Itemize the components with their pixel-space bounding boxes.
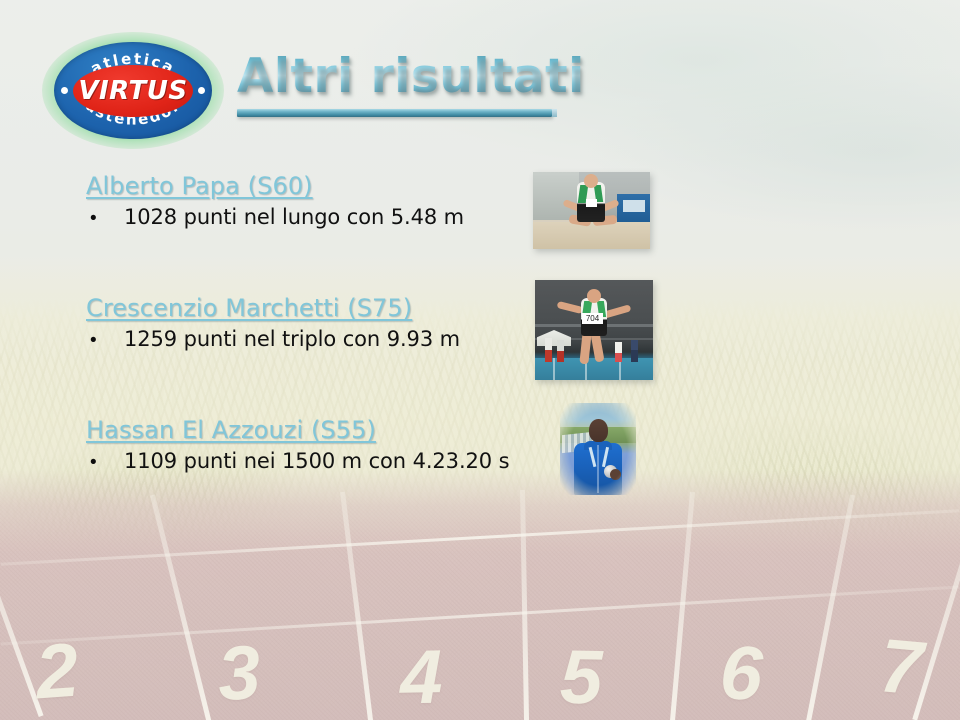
result-entry: Alberto Papa (S60) • 1028 punti nel lung… [86,172,556,229]
result-text: 1259 punti nel triplo con 9.93 m [124,327,460,351]
bullet-icon: • [86,331,124,350]
track-lane-number: 6 [718,635,764,713]
photo-lane-line [553,358,555,380]
photo-athlete-bib [586,199,597,207]
photo-official [615,342,622,362]
photo-athlete-head [589,419,608,442]
page-title: Altri risultati [237,52,657,101]
photo-athlete-head [584,174,598,188]
logo-center-text: VIRTUS [73,65,193,117]
photo-athlete-head [587,289,601,303]
track-lane-number: 3 [216,635,262,713]
result-line: • 1109 punti nei 1500 m con 4.23.20 s [86,449,556,473]
photo-banner [623,200,645,212]
result-line: • 1028 punti nel lungo con 5.48 m [86,205,556,229]
bullet-icon: • [86,453,124,472]
presentation-slide: 2 3 4 5 6 7 atletica castenedolo VIRTUS … [0,0,960,720]
photo-athlete-bib-number: 704 [582,313,603,324]
photo-official [545,338,552,362]
logo-dot-left [61,87,68,94]
result-line: • 1259 punti nel triplo con 9.93 m [86,327,556,351]
club-logo: atletica castenedolo VIRTUS [48,38,218,143]
medal-portrait-photo [560,403,636,495]
athlete-name-heading[interactable]: Alberto Papa (S60) [86,172,556,200]
track-lane-number: 5 [559,640,603,717]
bullet-icon: • [86,209,124,228]
slide-title-block: Altri risultati [237,52,657,101]
result-text: 1028 punti nel lungo con 5.48 m [124,205,464,229]
title-underline-bar [237,109,552,117]
track-lane-number: 2 [33,633,80,712]
result-entry: Crescenzio Marchetti (S75) • 1259 punti … [86,294,556,351]
track-lane-number: 4 [399,640,443,717]
athlete-name-heading[interactable]: Hassan El Azzouzi (S55) [86,416,556,444]
photo-official [557,340,564,362]
logo-dot-right [198,87,205,94]
track-lane-number: 7 [877,628,926,707]
athlete-name-heading[interactable]: Crescenzio Marchetti (S75) [86,294,556,322]
photo-tracksuit-zip [597,445,599,493]
photo-official [631,340,638,362]
photo-wall-left [533,172,579,220]
photo-athlete-hand [610,469,621,480]
result-text: 1109 punti nei 1500 m con 4.23.20 s [124,449,509,473]
photo-sand-pit [533,222,650,249]
triple-jump-photo: 704 [535,280,653,380]
long-jump-photo [533,172,650,249]
result-entry: Hassan El Azzouzi (S55) • 1109 punti nei… [86,416,556,473]
